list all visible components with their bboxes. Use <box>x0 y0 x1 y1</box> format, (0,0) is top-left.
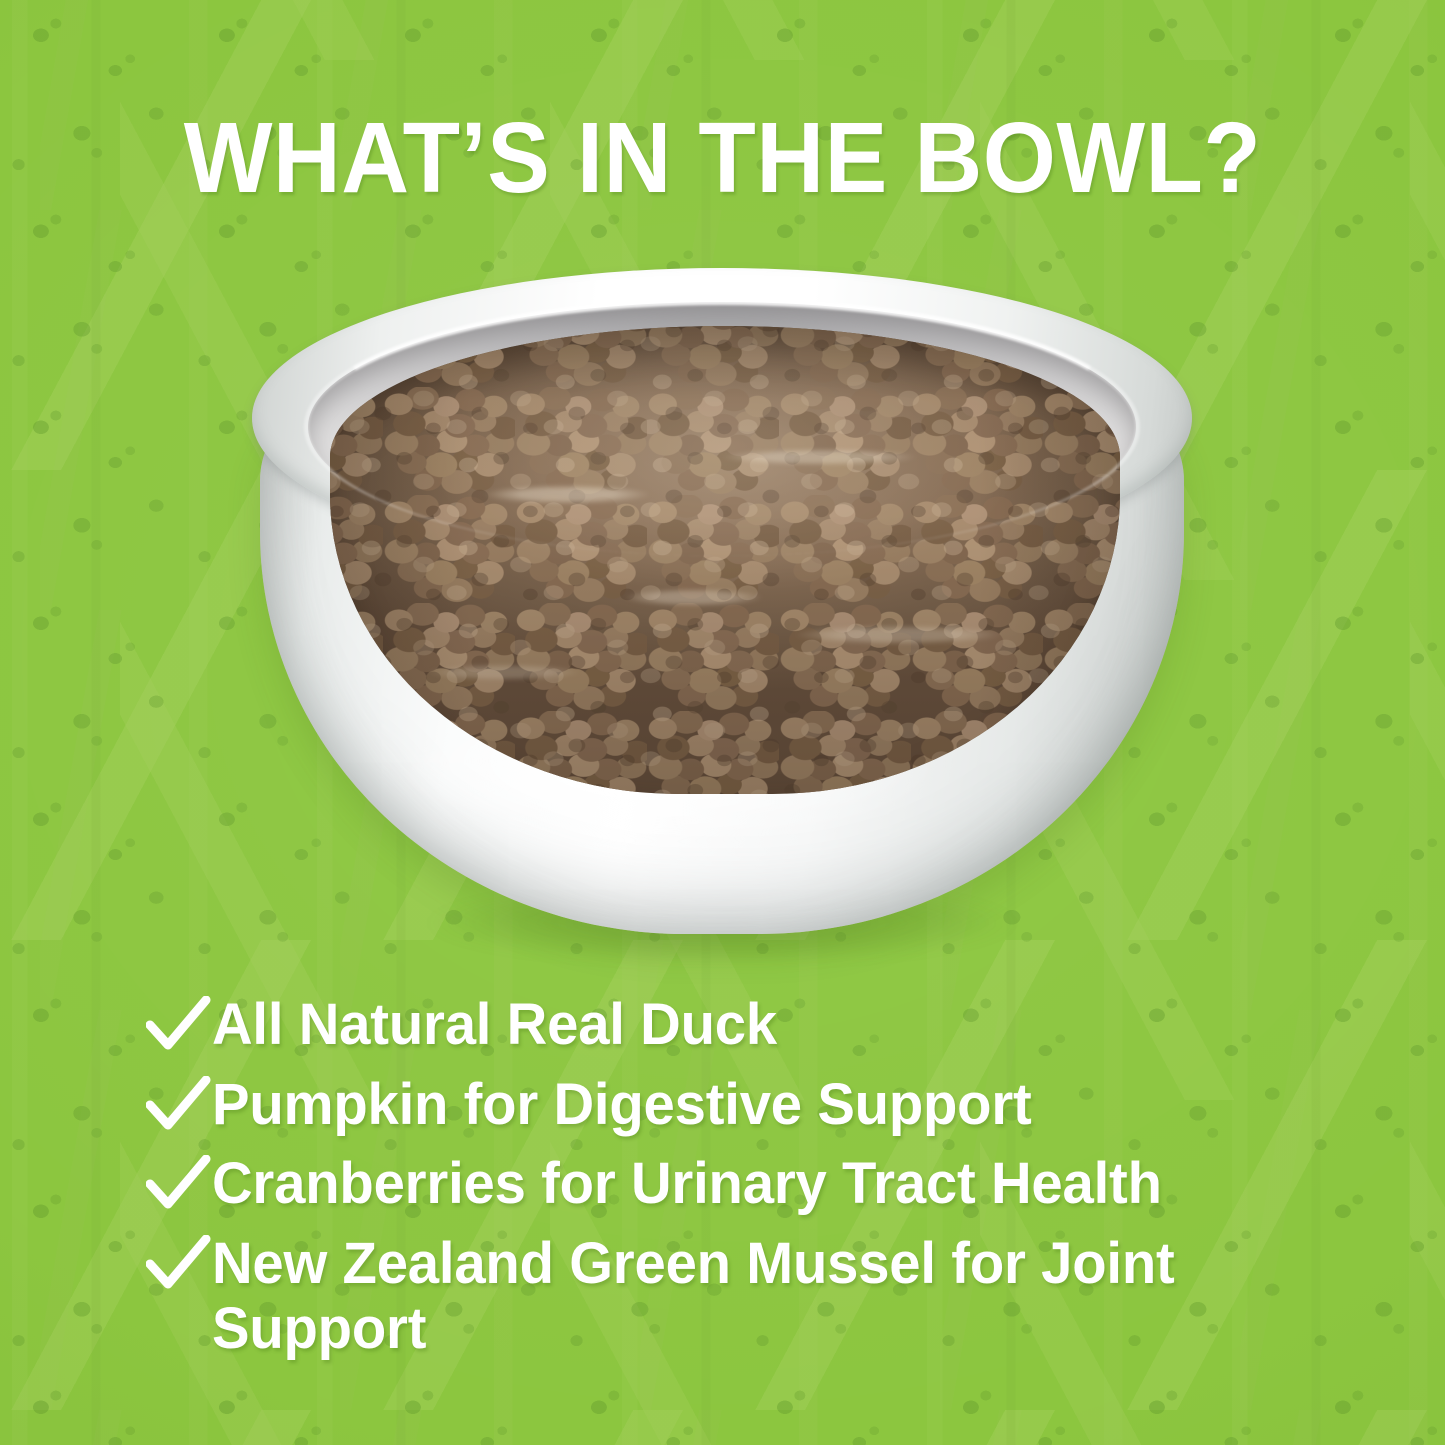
list-item-label: Pumpkin for Digestive Support <box>212 1072 1032 1138</box>
list-item-label: New Zealand Green Mussel for Joint Suppo… <box>212 1231 1380 1362</box>
list-item: New Zealand Green Mussel for Joint Suppo… <box>146 1231 1416 1362</box>
list-item: Cranberries for Urinary Tract Health <box>146 1151 1416 1217</box>
list-item: Pumpkin for Digestive Support <box>146 1072 1416 1138</box>
check-mark-icon <box>146 1155 212 1213</box>
list-item-label: All Natural Real Duck <box>212 992 777 1058</box>
list-item: All Natural Real Duck <box>146 992 1416 1058</box>
benefits-list: All Natural Real Duck Pumpkin for Digest… <box>146 992 1416 1376</box>
check-mark-icon <box>146 1235 212 1293</box>
check-mark-icon <box>146 1076 212 1134</box>
list-item-label: Cranberries for Urinary Tract Health <box>212 1151 1162 1217</box>
bowl-rim-inner-edge <box>304 298 1140 556</box>
check-mark-icon <box>146 996 212 1054</box>
page-title: WHAT’S IN THE BOWL? <box>43 108 1401 208</box>
promo-image-root: WHAT’S IN THE BOWL? All Natural Real Duc… <box>0 0 1445 1445</box>
hero-bowl-image <box>252 268 1192 958</box>
